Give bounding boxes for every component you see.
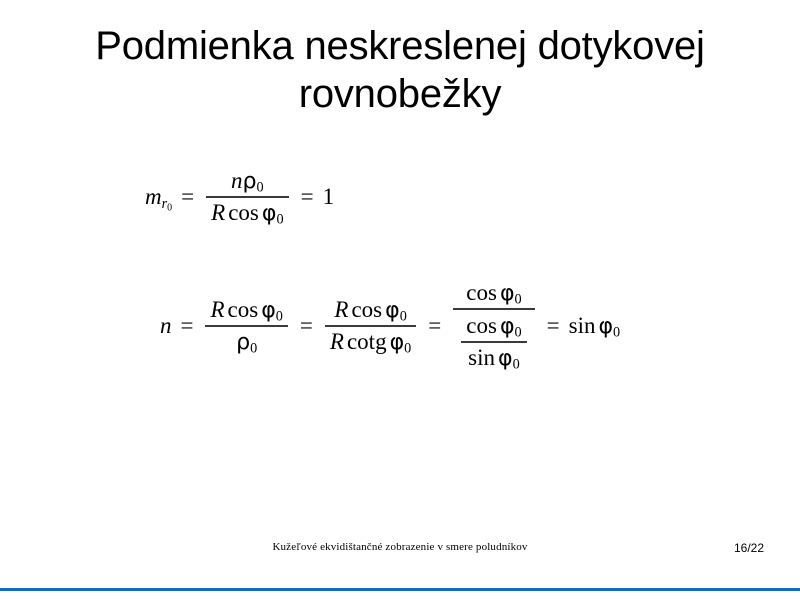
formula2-result: sinφ0 [569, 313, 621, 339]
footer-note: Kužeľové ekvidištančné zobrazenie v smer… [0, 541, 800, 553]
formula2-term3-inner-numerator: cosφ0 [461, 311, 526, 341]
formula2-term2-fraction: Rcosφ0 Rcotgφ0 [325, 295, 416, 357]
slide-canvas: Podmienka neskreslenej dotykovej rovnobe… [0, 0, 800, 600]
formula2-equals-4: = [538, 313, 569, 339]
formula2-term3-inner-fraction: cosφ0 sinφ0 [461, 311, 526, 373]
formula1-equals-2: = [292, 184, 323, 210]
formula1-fraction: nρ0 Rcosφ0 [206, 166, 288, 228]
formula-scale-condition: mr0 = nρ0 Rcosφ0 = 1 [145, 166, 334, 228]
formula1-lhs-symbol: mr0 [145, 184, 172, 210]
formula1-denominator: Rcosφ0 [206, 198, 288, 228]
formula2-term1-numerator: Rcosφ0 [205, 295, 287, 325]
formula1-numerator: nρ0 [226, 166, 269, 196]
formula2-term2-numerator: Rcosφ0 [329, 295, 411, 325]
formula-cone-constant: n = Rcosφ0 ρ0 = Rcosφ0 Rcotgφ0 = cosφ0 c… [160, 278, 620, 374]
formula2-term2-denominator: Rcotgφ0 [325, 327, 416, 357]
footer-page-number: 16/22 [734, 541, 764, 555]
slide-title: Podmienka neskreslenej dotykovej rovnobe… [40, 22, 760, 118]
formula2-term3-numerator: cosφ0 [461, 278, 526, 308]
formula2-equals-2: = [291, 313, 322, 339]
formula2-equals-3: = [419, 313, 450, 339]
formula1-result: 1 [323, 184, 335, 210]
formula2-term1-denominator: ρ0 [231, 327, 262, 357]
formula2-term1-fraction: Rcosφ0 ρ0 [205, 295, 287, 357]
formula2-equals-1: = [172, 313, 203, 339]
bottom-accent-rule [0, 588, 800, 591]
formula2-term3-inner-denominator: sinφ0 [463, 343, 525, 373]
formula2-term3-fraction: cosφ0 cosφ0 sinφ0 [453, 278, 534, 374]
formula2-term3-denominator: cosφ0 sinφ0 [453, 310, 534, 374]
formula1-equals-1: = [172, 184, 203, 210]
formula2-lhs-symbol: n [160, 313, 172, 339]
